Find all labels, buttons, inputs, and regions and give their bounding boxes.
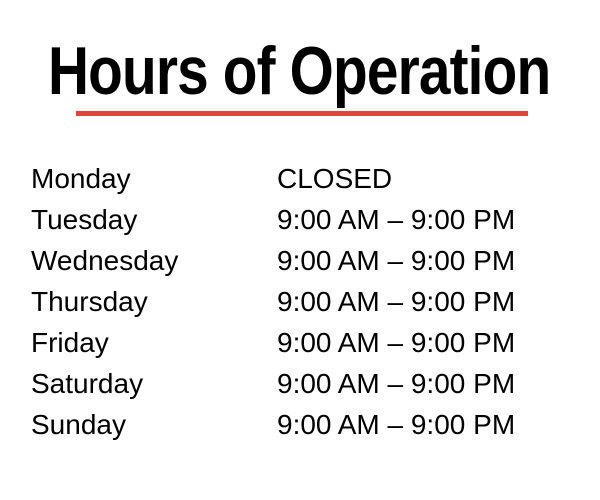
day-label: Monday [0,158,277,199]
title-underline-rule [76,111,528,116]
table-row: Saturday 9:00 AM – 9:00 PM [0,363,600,404]
table-row: Sunday 9:00 AM – 9:00 PM [0,404,600,445]
hours-value: 9:00 AM – 9:00 PM [277,199,600,240]
hours-value: 9:00 AM – 9:00 PM [277,363,600,404]
hours-value: 9:00 AM – 9:00 PM [277,404,600,445]
day-label: Friday [0,322,277,363]
page-title: Hours of Operation [48,36,550,106]
hours-value: CLOSED [277,158,600,199]
title-block: Hours of Operation [0,36,600,120]
table-row: Monday CLOSED [0,158,600,199]
hours-of-operation-page: Hours of Operation Monday CLOSED Tuesday… [0,0,600,500]
day-label: Tuesday [0,199,277,240]
day-label: Thursday [0,281,277,322]
hours-value: 9:00 AM – 9:00 PM [277,240,600,281]
day-label: Sunday [0,404,277,445]
day-label: Saturday [0,363,277,404]
table-row: Wednesday 9:00 AM – 9:00 PM [0,240,600,281]
table-row: Thursday 9:00 AM – 9:00 PM [0,281,600,322]
day-label: Wednesday [0,240,277,281]
table-row: Friday 9:00 AM – 9:00 PM [0,322,600,363]
hours-table: Monday CLOSED Tuesday 9:00 AM – 9:00 PM … [0,158,600,445]
table-row: Tuesday 9:00 AM – 9:00 PM [0,199,600,240]
hours-value: 9:00 AM – 9:00 PM [277,281,600,322]
hours-value: 9:00 AM – 9:00 PM [277,322,600,363]
